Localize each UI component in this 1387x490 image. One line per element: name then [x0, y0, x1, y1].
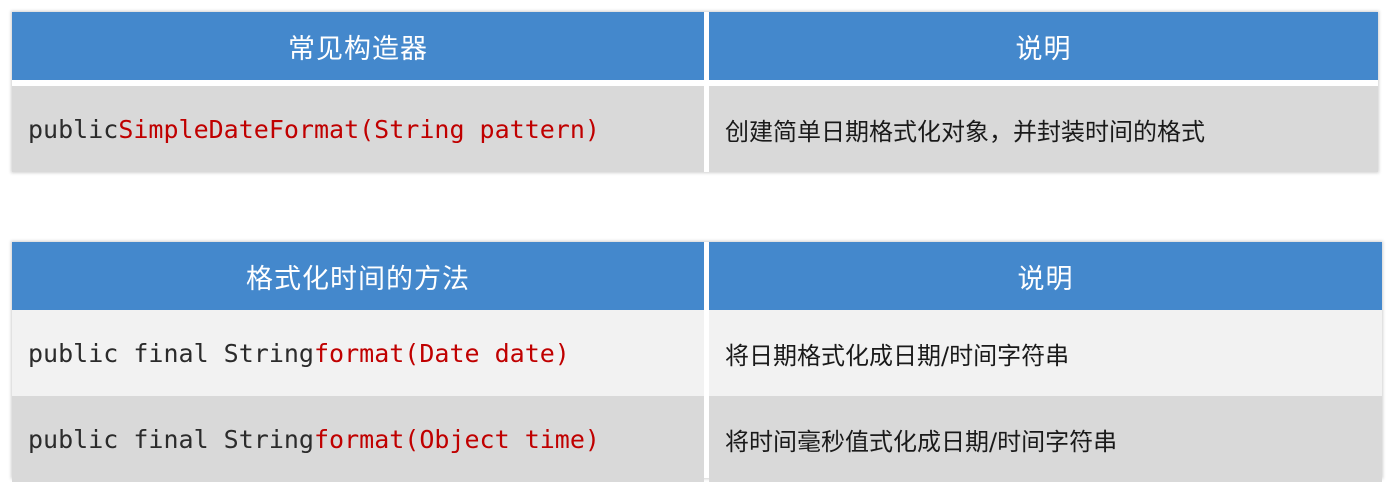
method-description-cell: 将时间毫秒值式化成日期/时间字符串: [709, 396, 1382, 482]
method-signature-cell: public final String format(Date date): [12, 310, 704, 396]
constructor-description-cell: 创建简单日期格式化对象，并封装时间的格式: [709, 86, 1378, 172]
table-header-row: 常见构造器 说明: [12, 12, 1378, 80]
table-row: public SimpleDateFormat(String pattern) …: [12, 86, 1378, 172]
column-header-constructors: 常见构造器: [12, 12, 704, 80]
method-description-cell: 将日期格式化成日期/时间字符串: [709, 310, 1382, 396]
code-signature: format(Object time): [314, 425, 600, 454]
column-header-description: 说明: [709, 242, 1382, 310]
code-modifier: public final String: [28, 339, 314, 368]
table-row: public final String format(Object time) …: [12, 396, 1382, 482]
table-row: public final String format(Date date) 将日…: [12, 310, 1382, 396]
constructors-table: 常见构造器 说明 public SimpleDateFormat(String …: [12, 12, 1378, 172]
column-header-description: 说明: [709, 12, 1378, 80]
column-header-format-methods: 格式化时间的方法: [12, 242, 704, 310]
table-header-row: 格式化时间的方法 说明: [12, 242, 1382, 310]
code-signature: format(Date date): [314, 339, 570, 368]
method-signature-cell: public final String format(Object time): [12, 396, 704, 482]
code-modifier: public final String: [28, 425, 314, 454]
code-modifier: public: [28, 115, 118, 144]
code-signature: SimpleDateFormat(String pattern): [118, 115, 600, 144]
format-methods-table: 格式化时间的方法 说明 public final String format(D…: [12, 242, 1382, 478]
constructor-signature-cell: public SimpleDateFormat(String pattern): [12, 86, 704, 172]
